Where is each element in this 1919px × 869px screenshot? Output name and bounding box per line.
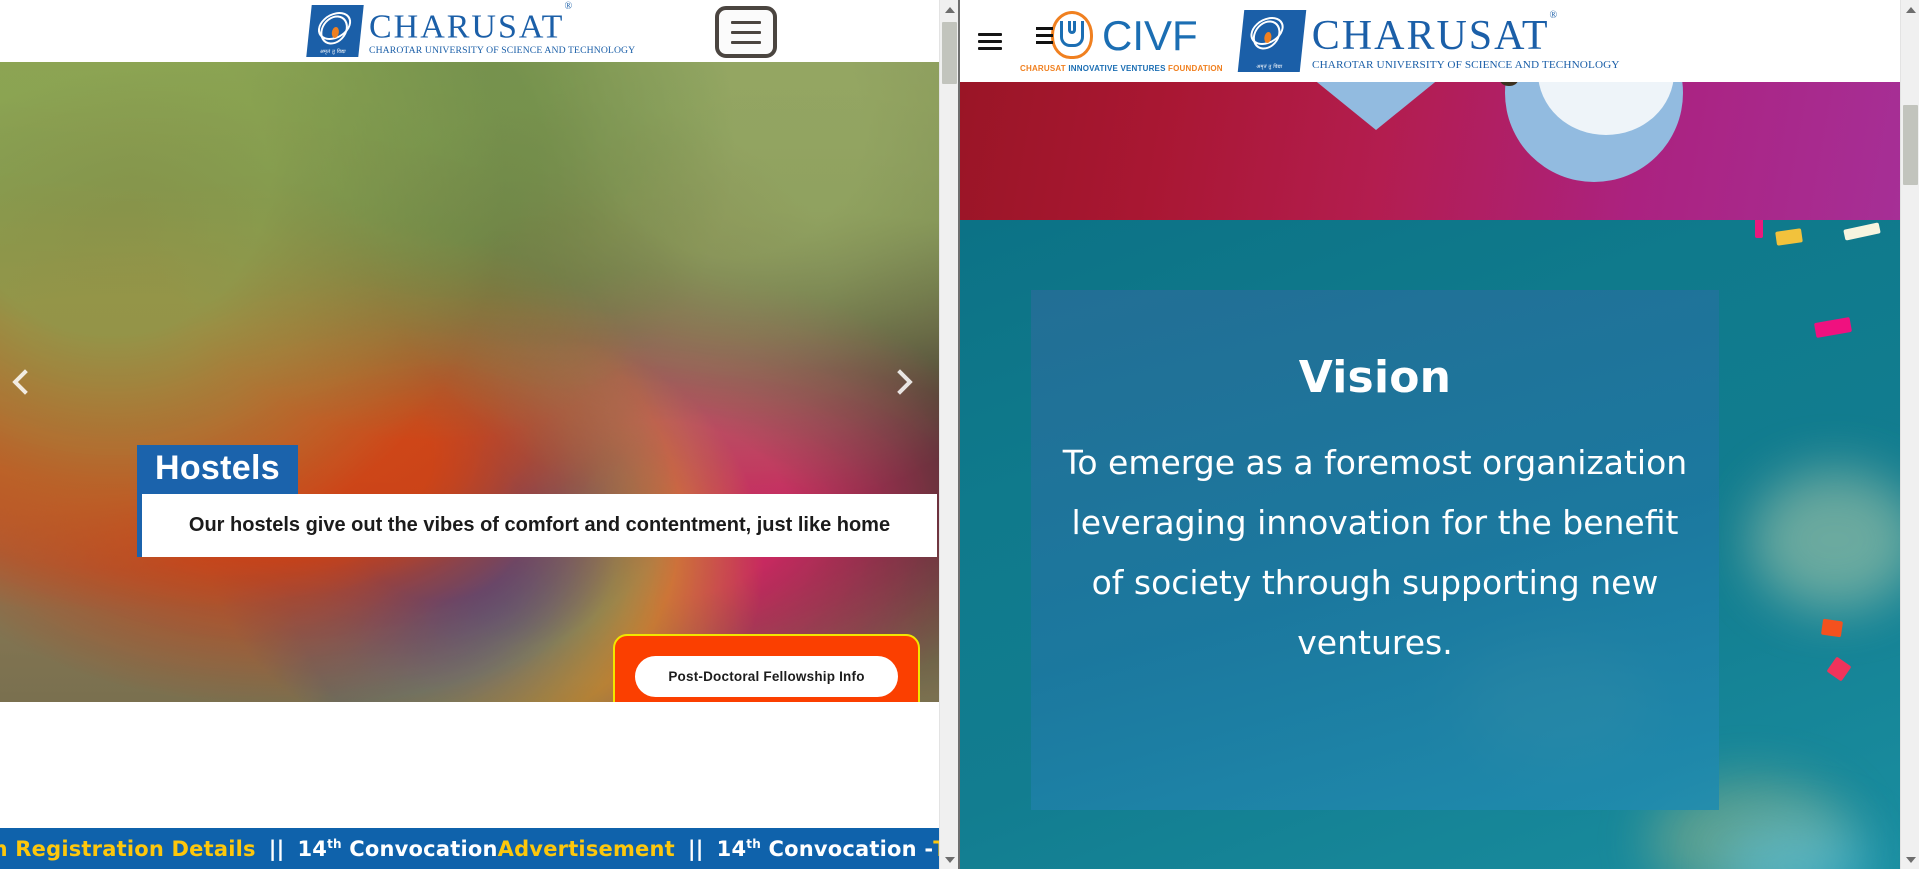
slide-title: Hostels bbox=[137, 445, 298, 494]
civf-tagline: CHARUSAT INNOVATIVE VENTURES FOUNDATION bbox=[1020, 64, 1223, 73]
right-scrollbar-thumb[interactable] bbox=[1903, 105, 1918, 185]
logo-sanskrit-text: अमृतं तु विद्या bbox=[306, 49, 359, 55]
civf-hero-banner bbox=[960, 82, 1900, 220]
ticker-item-2-link[interactable]: Advertisement bbox=[498, 837, 675, 861]
dual-browser-screen: अमृतं तु विद्या CHARUSAT® CHAROTAR UNIVE… bbox=[0, 0, 1919, 869]
registered-mark: ® bbox=[1550, 10, 1560, 21]
confetti-cream-1 bbox=[1843, 222, 1881, 240]
left-scrollbar-thumb[interactable] bbox=[942, 22, 957, 84]
vision-card: Vision To emerge as a foremost organizat… bbox=[1031, 290, 1719, 810]
charusat-logo-mark-icon: अमृतं तु विद्या bbox=[306, 5, 363, 57]
left-page-viewport: अमृतं तु विद्या CHARUSAT® CHAROTAR UNIVE… bbox=[0, 0, 939, 869]
logo-sanskrit-text: अमृतं तु विद्या bbox=[1238, 64, 1301, 70]
confetti-pink-1 bbox=[1755, 220, 1763, 238]
post-doctoral-fellowship-button[interactable]: Post-Doctoral Fellowship Info bbox=[635, 656, 898, 697]
admission-promo-box: Post-Doctoral Fellowship Info ADMISSION … bbox=[613, 634, 920, 702]
civf-logo[interactable]: CIVF CHARUSAT INNOVATIVE VENTURES FOUNDA… bbox=[1020, 9, 1223, 73]
charusat-logo-text: CHARUSAT® CHAROTAR UNIVERSITY OF SCIENCE… bbox=[369, 6, 630, 56]
civf-site-header: CIVF CHARUSAT INNOVATIVE VENTURES FOUNDA… bbox=[960, 0, 1900, 82]
charusat-logo[interactable]: अमृतं तु विद्या CHARUSAT® CHAROTAR UNIVE… bbox=[309, 5, 630, 57]
scroll-up-arrow-icon[interactable] bbox=[940, 0, 959, 19]
banner-shape-chevron bbox=[1315, 82, 1437, 130]
charusat-logo-text: CHARUSAT® CHAROTAR UNIVERSITY OF SCIENCE… bbox=[1312, 11, 1614, 71]
ticker-separator-2: || bbox=[675, 837, 717, 861]
charusat-wordmark: CHARUSAT® bbox=[369, 6, 630, 44]
civf-charusat-logo[interactable]: अमृतं तु विद्या CHARUSAT® CHAROTAR UNIVE… bbox=[1241, 10, 1614, 72]
scroll-down-arrow-icon[interactable] bbox=[1901, 850, 1919, 869]
vision-description: To emerge as a foremost organization lev… bbox=[1055, 433, 1695, 673]
civf-logo-mark-icon bbox=[1045, 9, 1099, 63]
slider-prev-arrow-icon[interactable] bbox=[2, 359, 48, 405]
left-panel-scrollbar[interactable] bbox=[939, 0, 958, 869]
news-ticker[interactable]: on Registration Details || 14th Convocat… bbox=[0, 828, 939, 869]
slide-caption: Hostels Our hostels give out the vibes o… bbox=[137, 445, 937, 557]
registered-mark: ® bbox=[564, 1, 574, 12]
scroll-up-arrow-icon[interactable] bbox=[1901, 0, 1919, 19]
menu-hamburger-icon[interactable] bbox=[715, 6, 777, 58]
slider-next-arrow-icon[interactable] bbox=[877, 359, 923, 405]
right-browser-panel: CIVF CHARUSAT INNOVATIVE VENTURES FOUNDA… bbox=[960, 0, 1919, 869]
right-panel-scrollbar[interactable] bbox=[1900, 0, 1919, 869]
confetti-yellow-1 bbox=[1775, 228, 1803, 245]
news-ticker-text: on Registration Details || 14th Convocat… bbox=[0, 837, 939, 861]
left-browser-panel: अमृतं तु विद्या CHARUSAT® CHAROTAR UNIVE… bbox=[0, 0, 960, 869]
charusat-site-header: अमृतं तु विद्या CHARUSAT® CHAROTAR UNIVE… bbox=[0, 0, 939, 62]
charusat-tagline: CHAROTAR UNIVERSITY OF SCIENCE AND TECHN… bbox=[369, 46, 635, 56]
charusat-wordmark: CHARUSAT® bbox=[1312, 11, 1614, 57]
charusat-tagline: CHAROTAR UNIVERSITY OF SCIENCE AND TECHN… bbox=[1312, 59, 1620, 71]
ticker-separator: || bbox=[256, 837, 298, 861]
scroll-down-arrow-icon[interactable] bbox=[940, 850, 959, 869]
confetti-orange-1 bbox=[1821, 619, 1843, 638]
ticker-item-2-prefix: 14th Convocation bbox=[297, 837, 497, 861]
confetti-red-1 bbox=[1826, 656, 1851, 681]
vision-section: Vision To emerge as a foremost organizat… bbox=[960, 220, 1900, 869]
confetti-pink-2 bbox=[1814, 317, 1852, 338]
right-page-viewport: CIVF CHARUSAT INNOVATIVE VENTURES FOUNDA… bbox=[960, 0, 1900, 869]
slide-description: Our hostels give out the vibes of comfor… bbox=[137, 494, 937, 557]
hero-slider: Hostels Our hostels give out the vibes o… bbox=[0, 62, 939, 702]
vision-title: Vision bbox=[1299, 352, 1451, 403]
civf-menu-hamburger-icon[interactable] bbox=[978, 33, 1002, 50]
slide-background-photo bbox=[0, 62, 939, 702]
ticker-item-3-prefix: 14th Convocation - bbox=[717, 837, 934, 861]
charusat-logo-mark-icon: अमृतं तु विद्या bbox=[1238, 10, 1307, 72]
civf-wordmark: CIVF bbox=[1102, 15, 1198, 57]
decor-glow-2 bbox=[1750, 470, 1900, 610]
ticker-item-1[interactable]: on Registration Details bbox=[0, 837, 256, 861]
civf-logo-row: CIVF bbox=[1045, 9, 1198, 63]
